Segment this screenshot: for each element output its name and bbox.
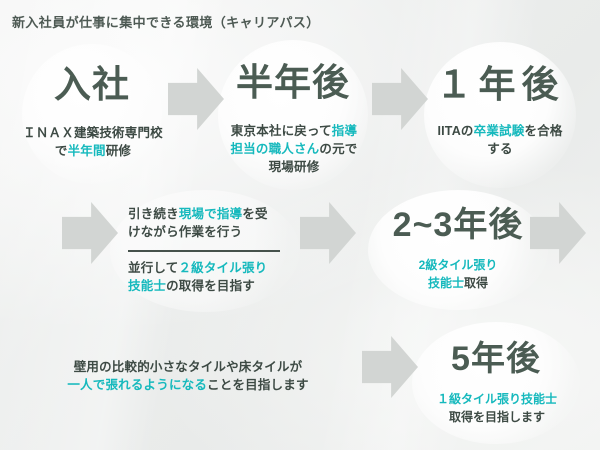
note-row2-lower: 並行して２級タイル張り技能士の取得を目指す xyxy=(128,259,298,295)
career-path-slide: 新入社員が仕事に集中できる環境（キャリアパス） 入社 ＩＮＡＸ建築技術専門校で半… xyxy=(0,0,600,450)
text-line: 技能士の取得を目指す xyxy=(128,277,298,295)
note-row2-upper: 引き続き現場で指導を受けながら作業を行う xyxy=(128,205,298,241)
accent-run: １級タイル張り技能士 xyxy=(437,392,557,406)
text-line: 引き続き現場で指導を受 xyxy=(128,205,298,223)
text-run: 引き続き xyxy=(128,207,179,221)
stage-caption-gonengo: １級タイル張り技能士取得を目指します xyxy=(404,390,590,426)
text-run: で xyxy=(55,144,68,158)
text-line: 技能士取得 xyxy=(368,274,548,292)
stage-heading-hantoshigo: 半年後 xyxy=(218,64,368,101)
accent-run: 担当の職人さん xyxy=(230,142,319,156)
text-run: 並行して xyxy=(128,261,178,275)
text-run: を受 xyxy=(242,207,267,221)
accent-run: 現場で指導 xyxy=(179,207,243,221)
text-run: 取得 xyxy=(464,276,488,290)
text-line: ＩＮＡＸ建築技術専門校 xyxy=(5,124,181,142)
accent-run: 半年間 xyxy=(68,144,106,158)
text-run: の取得を目指す xyxy=(166,279,255,293)
text-run: 研修 xyxy=(106,144,131,158)
text-run: 現場研修 xyxy=(269,160,320,174)
text-line: 取得を目指します xyxy=(404,408,590,426)
text-line: けながら作業を行う xyxy=(128,223,298,241)
text-run: する xyxy=(487,142,512,156)
accent-run: 技能士 xyxy=(428,276,464,290)
stage-heading-ni-san-nengo: 2~3年後 xyxy=(368,208,548,242)
stage-heading-nyusha: 入社 xyxy=(22,66,162,103)
text-line: 2級タイル張り xyxy=(368,256,548,274)
text-run: IITAの xyxy=(437,124,473,138)
text-run: ＩＮＡＸ建築技術専門校 xyxy=(23,126,163,140)
arrow-note3-to-gonengo xyxy=(362,336,418,398)
stage-caption-ni-san-nengo: 2級タイル張り技能士取得 xyxy=(368,256,548,292)
accent-run: 卒業試験 xyxy=(474,124,525,138)
text-line: １級タイル張り技能士 xyxy=(404,390,590,408)
text-line: する xyxy=(414,140,586,158)
accent-run: 一人で張れるようになる xyxy=(67,378,207,392)
arrow-hantoshigo-to-ichinengo xyxy=(372,68,428,130)
stage-body-nyusha: ＩＮＡＸ建築技術専門校で半年間研修 xyxy=(5,124,181,160)
text-run: 取得を目指します xyxy=(449,410,545,424)
text-run: 壁用の比較的小さなタイルや床タイルが xyxy=(74,360,303,374)
stage-body-hantoshigo: 東京本社に戻って指導担当の職人さんの元で現場研修 xyxy=(215,122,373,176)
text-line: 東京本社に戻って指導 xyxy=(215,122,373,140)
text-line: IITAの卒業試験を合格 xyxy=(414,122,586,140)
text-line: 並行して２級タイル張り xyxy=(128,259,298,277)
text-line: 壁用の比較的小さなタイルや床タイルが xyxy=(26,358,350,376)
text-line: 現場研修 xyxy=(215,158,373,176)
accent-run: 指導 xyxy=(332,124,357,138)
accent-run: ２級タイル張り xyxy=(178,261,267,275)
arrow-note-to-ni-san-nengo xyxy=(300,202,356,264)
text-line: で半年間研修 xyxy=(5,142,181,160)
note-divider xyxy=(128,250,280,252)
text-run: けながら作業を行う xyxy=(128,225,242,239)
text-run: を合格 xyxy=(524,124,562,138)
text-run: 東京本社に戻って xyxy=(231,124,332,138)
page-title: 新入社員が仕事に集中できる環境（キャリアパス） xyxy=(12,12,320,31)
stage-body-ichinengo: IITAの卒業試験を合格する xyxy=(414,122,586,158)
text-line: 担当の職人さんの元で xyxy=(215,140,373,158)
stage-heading-ichinengo: １年後 xyxy=(424,66,576,103)
accent-run: 2級タイル張り xyxy=(419,258,498,272)
arrow-nyusha-to-hantoshigo xyxy=(168,68,224,130)
text-run: ことを目指します xyxy=(207,378,309,392)
text-run: の元で xyxy=(319,142,357,156)
accent-run: 技能士 xyxy=(128,279,166,293)
note-row3: 壁用の比較的小さなタイルや床タイルが一人で張れるようになることを目指します xyxy=(26,358,350,394)
stage-heading-gonengo: 5年後 xyxy=(412,342,580,376)
text-line: 一人で張れるようになることを目指します xyxy=(26,376,350,394)
